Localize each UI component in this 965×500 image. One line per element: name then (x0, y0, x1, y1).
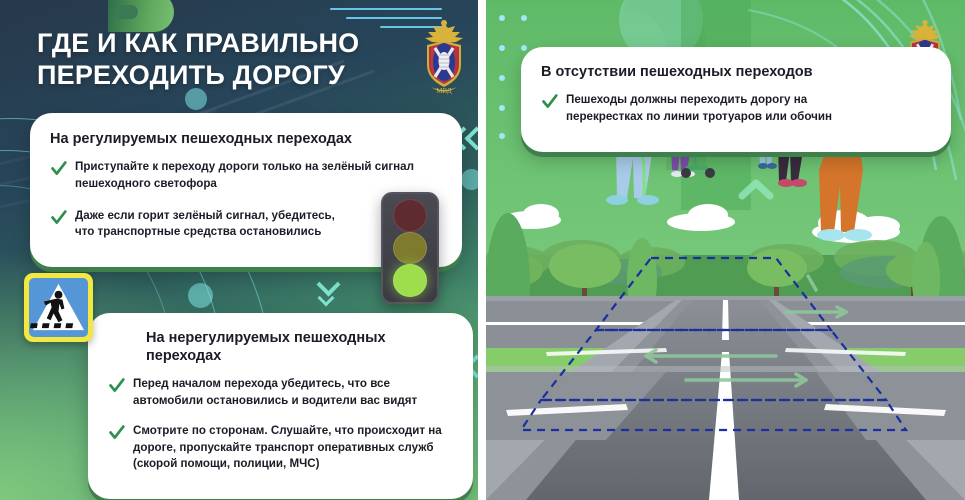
check-icon (50, 160, 67, 177)
check-icon (108, 377, 125, 394)
bullet-item: Пешеходы должны переходить дорогу на пер… (541, 92, 931, 125)
bullet-text: Пешеходы должны переходить дорогу на пер… (566, 92, 851, 125)
bullet-text: Приступайте к переходу дороги только на … (75, 159, 442, 192)
bullet-text: Перед началом перехода убедитесь, что вс… (133, 376, 453, 409)
chevron-down-icon (320, 276, 337, 293)
infographic-root: МВД ГДЕ И КАК ПРАВИЛЬНО ПЕРЕХОДИТЬ ДОРОГ… (0, 0, 965, 500)
bullet-text: Смотрите по сторонам. Слушайте, что прои… (133, 423, 453, 472)
yellow-lamp (393, 232, 427, 265)
check-icon (108, 424, 125, 441)
card-unregulated-crossings: На нерегулируемых пешеходных переходах П… (88, 313, 473, 499)
decorative-dot (461, 169, 478, 190)
bullet-text: Даже если горит зелёный сигнал, убедитес… (75, 208, 345, 241)
card-no-crossings: В отсутствии пешеходных переходов Пешехо… (521, 47, 951, 152)
pedestrian-glyph (29, 278, 88, 337)
card-title: На регулируемых пешеходных переходах (50, 130, 442, 148)
bullet-item: Приступайте к переходу дороги только на … (50, 159, 442, 192)
right-panel: В отсутствии пешеходных переходов Пешехо… (486, 0, 965, 500)
chevron-down-icon (320, 292, 332, 304)
bullet-item: Смотрите по сторонам. Слушайте, что прои… (108, 423, 453, 472)
left-panel: МВД ГДЕ И КАК ПРАВИЛЬНО ПЕРЕХОДИТЬ ДОРОГ… (0, 0, 478, 500)
decorative-dot (188, 283, 213, 308)
chevron-left-icon (468, 130, 478, 147)
card-title: На нерегулируемых пешеходных переходах (108, 329, 453, 365)
check-icon (541, 93, 558, 110)
svg-text:МВД: МВД (436, 87, 452, 95)
page-title: ГДЕ И КАК ПРАВИЛЬНО ПЕРЕХОДИТЬ ДОРОГУ (37, 28, 417, 92)
red-lamp (393, 199, 427, 232)
pedestrian-crossing-sign (24, 273, 93, 342)
check-icon (50, 209, 67, 226)
traffic-light (381, 192, 439, 304)
bullet-list: Перед началом перехода убедитесь, что вс… (108, 376, 453, 472)
bullet-item: Перед началом перехода убедитесь, что вс… (108, 376, 453, 409)
green-lamp (393, 264, 427, 297)
mvd-emblem: МВД (413, 17, 475, 99)
bullet-list: Пешеходы должны переходить дорогу на пер… (541, 92, 931, 125)
sign-face (29, 278, 88, 337)
card-title: В отсутствии пешеходных переходов (541, 63, 931, 81)
